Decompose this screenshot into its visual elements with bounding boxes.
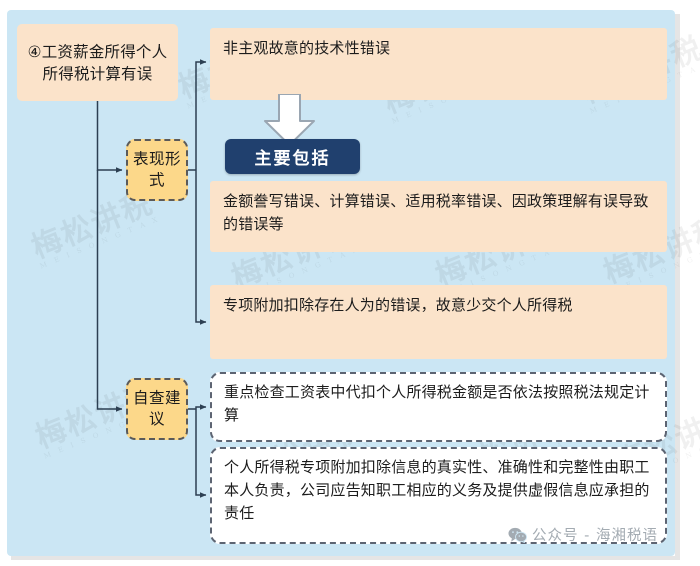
panel-intentional-error-text: 专项附加扣除存在人为的错误，故意少交个人所得税 xyxy=(223,296,573,314)
page-title: ④工资薪金所得个人所得税计算有误 xyxy=(23,41,172,85)
chip-self-inspection-advice-label: 自查建议 xyxy=(128,388,186,430)
panel-error-types: 金额誊写错误、计算错误、适用税率错误、因政策理解有误导致的错误等 xyxy=(210,181,667,252)
chip-self-inspection-advice[interactable]: 自查建议 xyxy=(126,378,188,440)
panel-intentional-error: 专项附加扣除存在人为的错误，故意少交个人所得税 xyxy=(210,285,667,359)
wechat-icon xyxy=(508,527,527,543)
panel-technical-error: 非主观故意的技术性错误 xyxy=(210,28,667,100)
attribution: 公众号 - 海湘税语 xyxy=(508,524,658,545)
panel-error-types-text: 金额誊写错误、计算错误、适用税率错误、因政策理解有误导致的错误等 xyxy=(223,192,649,233)
page-shadow-right xyxy=(675,14,680,556)
page-shadow-bottom xyxy=(11,556,680,560)
panel-advice-check-payroll: 重点检查工资表中代扣个人所得税金额是否依法按照税法规定计算 xyxy=(210,372,667,442)
panel-technical-error-text: 非主观故意的技术性错误 xyxy=(223,39,390,57)
attribution-text: 公众号 - 海湘税语 xyxy=(532,524,658,545)
infographic-canvas: 梅松讲税 M E I S O N G T A X 梅松讲税 M E I S O … xyxy=(0,0,700,566)
panel-advice-check-payroll-text: 重点检查工资表中代扣个人所得税金额是否依法按照税法规定计算 xyxy=(224,383,650,424)
main-title-box: ④工资薪金所得个人所得税计算有误 xyxy=(17,24,178,101)
chip-expression-form[interactable]: 表现形式 xyxy=(126,139,188,201)
panel-advice-employee-responsibility-text: 个人所得税专项附加扣除信息的真实性、准确性和完整性由职工本人负责，公司应告知职工… xyxy=(224,458,650,522)
banner-main-includes: 主要包括 xyxy=(225,139,360,174)
chip-expression-form-label: 表现形式 xyxy=(128,149,186,191)
banner-main-includes-label: 主要包括 xyxy=(255,144,331,169)
